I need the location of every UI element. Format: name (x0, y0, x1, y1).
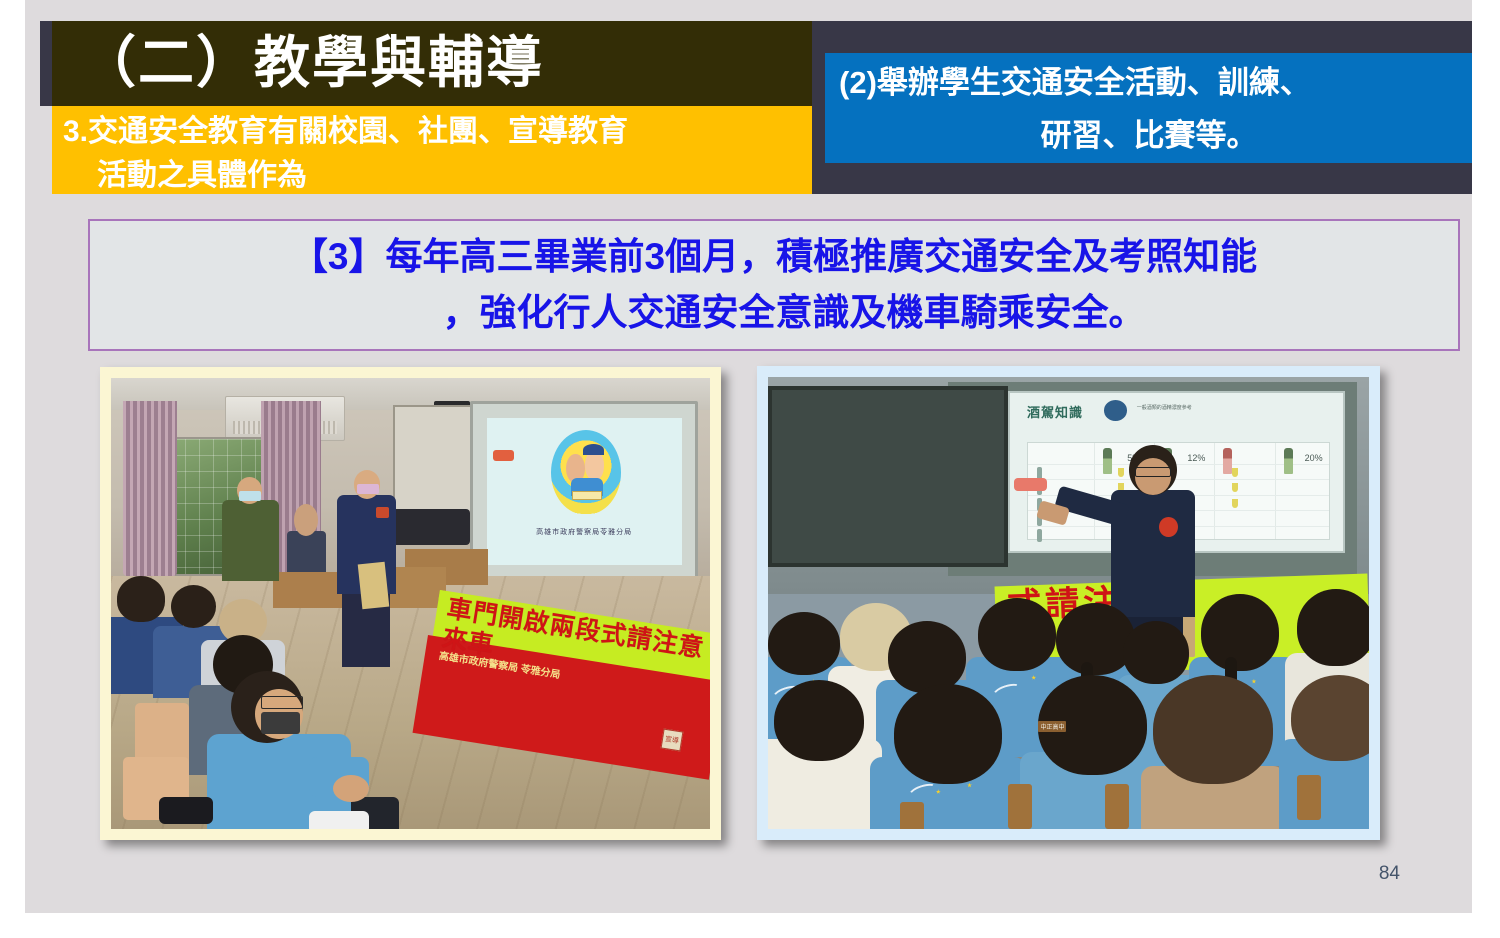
subsection-heading-line2: 活動之具體作為 (63, 154, 808, 198)
drunk-driving-slide-subtitle: 一般酒類的酒精濃度參考 (1137, 404, 1330, 420)
audience-head-1 (117, 576, 165, 621)
logo-ribbon (572, 491, 601, 500)
page-title: （二）教學與輔導 (80, 24, 800, 104)
photo-left-frame: 高雄市政府警察局苓雅分局 車門開啟兩段式請注意來車 高雄市政府警察局 苓雅分局 (100, 367, 721, 840)
student-head-r4 (978, 598, 1056, 670)
slide-police-badge (1104, 400, 1127, 421)
chair-back-1 (900, 802, 924, 829)
slide-red-tag-right (1014, 478, 1047, 491)
chair-back-4 (1297, 775, 1321, 820)
projected-org-text: 高雄市政府警察局苓雅分局 (506, 527, 662, 542)
student-head-f5 (1291, 675, 1369, 761)
blackboard-left (768, 386, 1008, 567)
header-left-accent-bar (40, 21, 52, 106)
audience-shoe-1 (159, 797, 213, 824)
military-instructor-body (222, 500, 279, 581)
kcpd-logo (551, 430, 621, 515)
curtain-left (123, 401, 177, 577)
slide-canvas: （二）教學與輔導 3.交通安全教育有關校園、社團、宣導教育 活動之具體作為 (2… (25, 0, 1472, 913)
photo-right-frame: 酒駕知識 一般酒類的酒精濃度參考 5% (757, 366, 1380, 840)
student-head-f4 (1153, 675, 1273, 783)
subsection-heading: 3.交通安全教育有關校園、社團、宣導教育 活動之具體作為 (63, 110, 808, 198)
header-right-item-line1: (2)舉辦學生交通安全活動、訓練、 (831, 56, 1467, 109)
student-head-r7 (1201, 594, 1279, 671)
student-head-f2 (894, 684, 1002, 783)
police-shoulder-badge (376, 507, 389, 519)
main-content-line1: 【3】每年高三畢業前3個月，積極推廣交通安全及考照知能 (90, 229, 1458, 285)
student-head-r1 (768, 612, 840, 675)
drunk-driving-slide-title: 酒駕知識 (1027, 402, 1147, 424)
front-student-mask (261, 712, 300, 735)
banner-seal: 宣導 (661, 728, 684, 751)
main-content-line2: ，強化行人交通安全意識及機車騎乘安全。 (90, 285, 1458, 341)
student-head-f1 (774, 680, 864, 761)
alcohol-pct-4: 20% (1305, 453, 1323, 463)
subsection-heading-line1: 3.交通安全教育有關校園、社團、宣導教育 (63, 115, 628, 148)
front-student-hand (333, 775, 369, 802)
military-instructor-mask (239, 491, 261, 501)
projected-slide-left: 高雄市政府警察局苓雅分局 (487, 418, 682, 565)
photo-right-image: 酒駕知識 一般酒類的酒精濃度參考 5% (768, 377, 1369, 829)
photo-left-image: 高雄市政府警察局苓雅分局 車門開啟兩段式請注意來車 高雄市政府警察局 苓雅分局 (111, 378, 710, 829)
whiteboard (393, 405, 483, 518)
header-right-item: (2)舉辦學生交通安全活動、訓練、 研習、比賽等。 (831, 56, 1467, 162)
header-right-item-line2: 研習、比賽等。 (831, 109, 1467, 162)
student-head-r6 (1123, 621, 1189, 684)
shirt-school-label: 中正高中 (1038, 721, 1066, 732)
audience-head-2 (171, 585, 216, 628)
seated-staff-head (294, 504, 318, 536)
main-content-box: 【3】每年高三畢業前3個月，積極推廣交通安全及考照知能 ，強化行人交通安全意識及… (88, 219, 1460, 351)
chair-back-2 (1008, 784, 1032, 829)
police-officer-mask (357, 484, 379, 494)
police-officer-folder (357, 562, 389, 610)
seated-staff-body (287, 531, 326, 572)
page-number: 84 (1379, 863, 1400, 885)
student-head-r8 (1297, 589, 1369, 666)
alcohol-pct-2: 12% (1187, 453, 1205, 463)
chair-back-3 (1105, 784, 1129, 829)
officer-glasses-right (1135, 467, 1171, 477)
audience-shoe-2 (309, 811, 369, 829)
main-content-text: 【3】每年高三畢業前3個月，積極推廣交通安全及考照知能 ，強化行人交通安全意識及… (90, 229, 1458, 341)
slide-red-tag (493, 450, 514, 460)
desk-front (273, 572, 345, 608)
logo-police-cap (583, 444, 604, 456)
student-head-r5 (1056, 603, 1134, 675)
student-head-r3 (888, 621, 966, 693)
projector-screen-left: 高雄市政府警察局苓雅分局 (470, 401, 698, 590)
front-student-glasses (261, 696, 303, 710)
